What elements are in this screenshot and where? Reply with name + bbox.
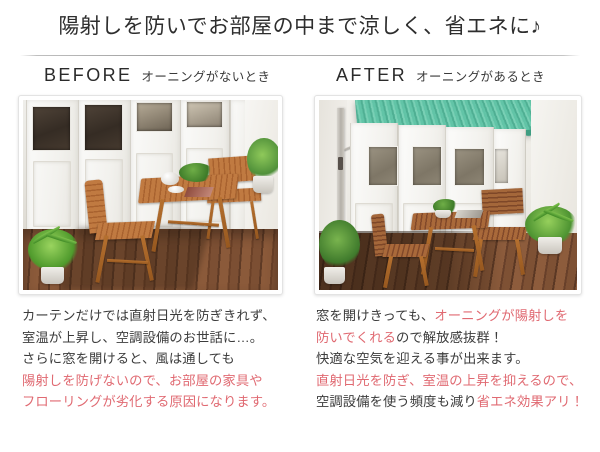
after-column: AFTER オーニングがあるとき xyxy=(300,65,600,413)
before-table-cup xyxy=(168,186,183,194)
before-window-pane-1 xyxy=(32,106,71,152)
comparison-columns: BEFORE オーニングがないとき xyxy=(0,51,600,413)
before-caption-line-1: カーテンだけでは直射日光を防ぎきれず、 xyxy=(22,305,288,327)
before-caption-seg-1-1: カーテンだけでは直射日光を防ぎきれず、 xyxy=(22,308,276,323)
before-window-pane-4 xyxy=(186,101,222,128)
header-divider xyxy=(20,55,580,56)
before-side-plant xyxy=(247,138,278,180)
before-caption-seg-4-1: 陽射しを防げないので、お部屋の家具や xyxy=(22,373,263,388)
after-label-jp: オーニングがあるとき xyxy=(416,66,545,85)
page-header: 陽射しを防いでお部屋の中まで涼しく、省エネに♪ xyxy=(0,0,600,50)
after-caption-line-3: 快適な空気を迎える事が出来ます。 xyxy=(316,348,586,370)
page-root: { "title": "陽射しを防いでお部屋の中まで涼しく、省エネに♪", "a… xyxy=(0,0,600,452)
before-caption-line-2: 室温が上昇し、空調設備のお世話に…。 xyxy=(22,327,288,349)
before-caption-line-4: 陽射しを防げないので、お部屋の家具や xyxy=(22,370,288,392)
before-photo-frame xyxy=(18,95,283,295)
before-table-teapot xyxy=(161,172,179,185)
after-caption-seg-2-2: ので解放感抜群！ xyxy=(396,330,503,345)
before-caption-line-5: フローリングが劣化する原因になります。 xyxy=(22,391,288,413)
after-left-plant-pot xyxy=(324,267,345,284)
after-caption-seg-1-1: 窓を開けきっても、 xyxy=(316,308,434,323)
after-window-pane-2 xyxy=(412,146,442,186)
after-window-pane-1 xyxy=(368,146,398,186)
before-table-plant xyxy=(179,163,215,182)
after-label-en: AFTER xyxy=(336,65,407,86)
after-caption-line-4: 直射日光を防ぎ、室温の上昇を抑えるので、 xyxy=(316,370,586,392)
after-table-book xyxy=(454,210,483,218)
before-label-en: BEFORE xyxy=(44,65,132,86)
before-door-panel-1 xyxy=(33,161,71,228)
before-caption-seg-2-1: 室温が上昇し、空調設備のお世話に…。 xyxy=(22,330,263,345)
after-photo-frame xyxy=(314,95,582,295)
before-caption: カーテンだけでは直射日光を防ぎきれず、 室温が上昇し、空調設備のお世話に…。 さ… xyxy=(18,305,288,413)
after-left-plant xyxy=(319,220,360,269)
before-label-jp: オーニングがないとき xyxy=(141,66,270,85)
before-window-pane-2 xyxy=(84,104,123,152)
page-title: 陽射しを防いでお部屋の中まで涼しく、省エネに♪ xyxy=(58,10,541,40)
after-photo xyxy=(319,100,577,290)
after-caption-seg-5-2: 省エネ効果アリ！ xyxy=(477,394,584,409)
after-caption-seg-1-2: オーニングが陽射しを xyxy=(434,308,568,323)
before-photo xyxy=(23,100,278,290)
after-caption-seg-5-1: 空調設備を使う頻度も減り xyxy=(316,394,477,409)
before-side-plant-pot xyxy=(253,176,273,193)
after-table-plant-pot xyxy=(435,210,450,218)
before-table-book xyxy=(184,187,213,197)
after-post-fixture xyxy=(338,157,343,170)
before-window-pane-3 xyxy=(136,102,172,133)
after-window-pane-3 xyxy=(454,148,484,186)
after-window-pane-4 xyxy=(494,148,509,184)
before-caption-line-3: さらに窓を開けると、風は通しても xyxy=(22,348,288,370)
before-column: BEFORE オーニングがないとき xyxy=(0,65,300,413)
before-heading: BEFORE オーニングがないとき xyxy=(18,65,288,89)
before-caption-seg-5-1: フローリングが劣化する原因になります。 xyxy=(22,394,275,409)
after-caption-seg-3-1: 快適な空気を迎える事が出来ます。 xyxy=(316,351,529,366)
after-right-plant-pot xyxy=(538,237,561,254)
after-heading: AFTER オーニングがあるとき xyxy=(314,65,586,89)
after-caption: 窓を開けきっても、オーニングが陽射しを 防いでくれるので解放感抜群！ 快適な空気… xyxy=(314,305,586,413)
before-caption-seg-3-1: さらに窓を開けると、風は通しても xyxy=(22,351,235,366)
after-caption-line-5: 空調設備を使う頻度も減り省エネ効果アリ！ xyxy=(316,391,586,413)
after-caption-line-2: 防いでくれるので解放感抜群！ xyxy=(316,327,586,349)
before-plant-pot xyxy=(41,267,64,284)
after-caption-line-1: 窓を開けきっても、オーニングが陽射しを xyxy=(316,305,586,327)
after-caption-seg-2-1: 防いでくれる xyxy=(316,330,396,345)
after-caption-seg-4-1: 直射日光を防ぎ、室温の上昇を抑えるので、 xyxy=(316,373,582,388)
